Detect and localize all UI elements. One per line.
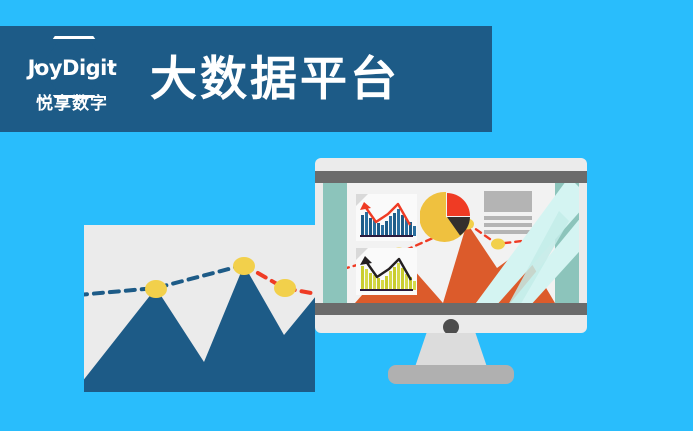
doc-text-line [484,223,532,227]
blue-bar-chart-card [356,194,417,241]
arrow-icon [360,202,371,210]
mountain-chart-svg [84,225,315,392]
page-title: 大数据平台 [150,56,400,103]
data-node [145,280,167,298]
desktop-monitor [315,158,587,333]
doc-text-line [484,216,532,220]
yellow-bar-chart-card [356,248,417,295]
mountain-chart-panel [84,225,315,392]
logo-chinese-text: 悦享数字 [36,95,108,112]
power-indicator-icon [443,319,459,335]
document-text-block [484,191,532,233]
data-node [233,257,255,275]
monitor-stand-base [388,365,514,384]
illustration-stage: JoyDigit 悦享数字 大数据平台 [0,0,693,431]
monitor-bottom-bezel [315,303,587,315]
doc-image-placeholder [484,191,532,212]
monitor-stand-neck [415,333,487,367]
doc-text-line [484,230,532,234]
blue-card-trendline [356,194,417,241]
header-banner: JoyDigit 悦享数字 大数据平台 [0,26,492,132]
joydigit-logo: JoyDigit 悦享数字 [16,34,128,124]
monitor-top-bezel [315,171,587,183]
data-node [491,239,505,250]
pie-chart [420,191,472,243]
data-node [274,279,296,297]
screen-side-band-right [555,183,579,303]
logo-english-text: JoyDigit [28,58,117,79]
monitor-screen [323,183,579,303]
pie-slice-red [447,193,470,216]
arrow-icon [360,256,372,265]
yellow-card-trendline [356,248,417,295]
screen-side-band-left [323,183,347,303]
